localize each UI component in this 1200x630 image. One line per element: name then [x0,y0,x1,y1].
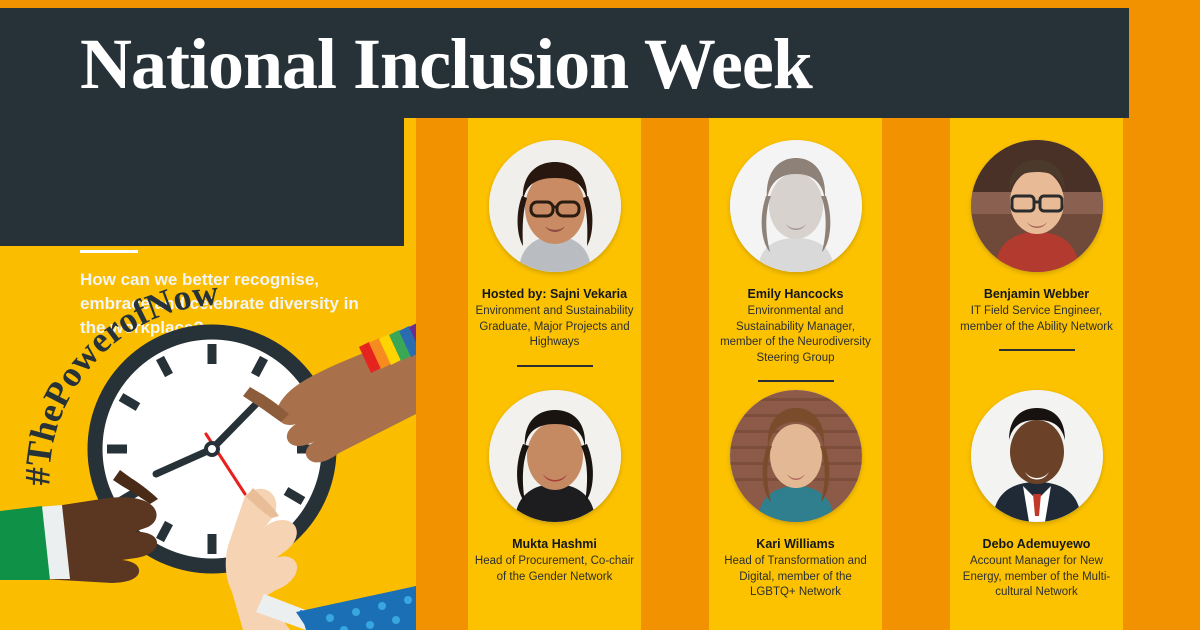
people-column-3: Benjamin Webber IT Field Service Enginee… [950,118,1123,630]
people-column-2: Emily Hancocks Environmental and Sustain… [709,118,882,630]
person-card[interactable]: Debo Ademuyewo Account Manager for New E… [950,390,1123,601]
avatar-benjamin-webber [971,140,1103,272]
person-name: Hosted by: Sajni Vekaria [468,286,641,302]
person-role: Head of Procurement, Co-chair of the Gen… [468,554,641,585]
person-name: Kari Williams [709,536,882,552]
avatar-emily-hancocks [730,140,862,272]
clock-face-svg [0,246,416,630]
avatar-sajni-vekaria [489,140,621,272]
avatar-photo-kari [730,390,862,522]
page-title: National Inclusion Week [80,26,812,102]
person-card[interactable]: Benjamin Webber IT Field Service Enginee… [950,140,1123,351]
person-name: Mukta Hashmi [468,536,641,552]
person-name: Emily Hancocks [709,286,882,302]
person-role: Environment and Sustainability Graduate,… [468,304,641,351]
person-name: Benjamin Webber [950,286,1123,302]
person-role: Account Manager for New Energy, member o… [950,554,1123,601]
avatar-photo-mukta [489,390,621,522]
avatar-mukta-hashmi [489,390,621,522]
avatar-photo-sajni [489,140,621,272]
person-card[interactable]: Mukta Hashmi Head of Procurement, Co-cha… [468,390,641,585]
people-column-1: Hosted by: Sajni Vekaria Environment and… [468,118,641,630]
card-divider [758,380,834,382]
avatar-photo-emily [730,140,862,272]
person-role: IT Field Service Engineer, member of the… [950,304,1123,335]
avatar-photo-benjamin [971,140,1103,272]
clock-center-pin [206,443,218,455]
poster-canvas: National Inclusion Week How can we bette… [0,0,1200,630]
card-divider [999,349,1075,351]
person-role: Environmental and Sustainability Manager… [709,304,882,366]
title-bar: National Inclusion Week [0,8,1129,118]
avatar-kari-williams [730,390,862,522]
person-name: Debo Ademuyewo [950,536,1123,552]
card-divider [517,365,593,367]
hand-lower-left [0,470,158,583]
person-card[interactable]: Hosted by: Sajni Vekaria Environment and… [468,140,641,367]
person-card[interactable]: Kari Williams Head of Transformation and… [709,390,882,601]
subhead-block: How can we better recognise, embrace and… [0,118,404,246]
avatar-debo-ademuyewo [971,390,1103,522]
person-card[interactable]: Emily Hancocks Environmental and Sustain… [709,140,882,382]
person-role: Head of Transformation and Digital, memb… [709,554,882,601]
avatar-photo-debo [971,390,1103,522]
clock-illustration: #ThePowerofNow [0,246,416,630]
